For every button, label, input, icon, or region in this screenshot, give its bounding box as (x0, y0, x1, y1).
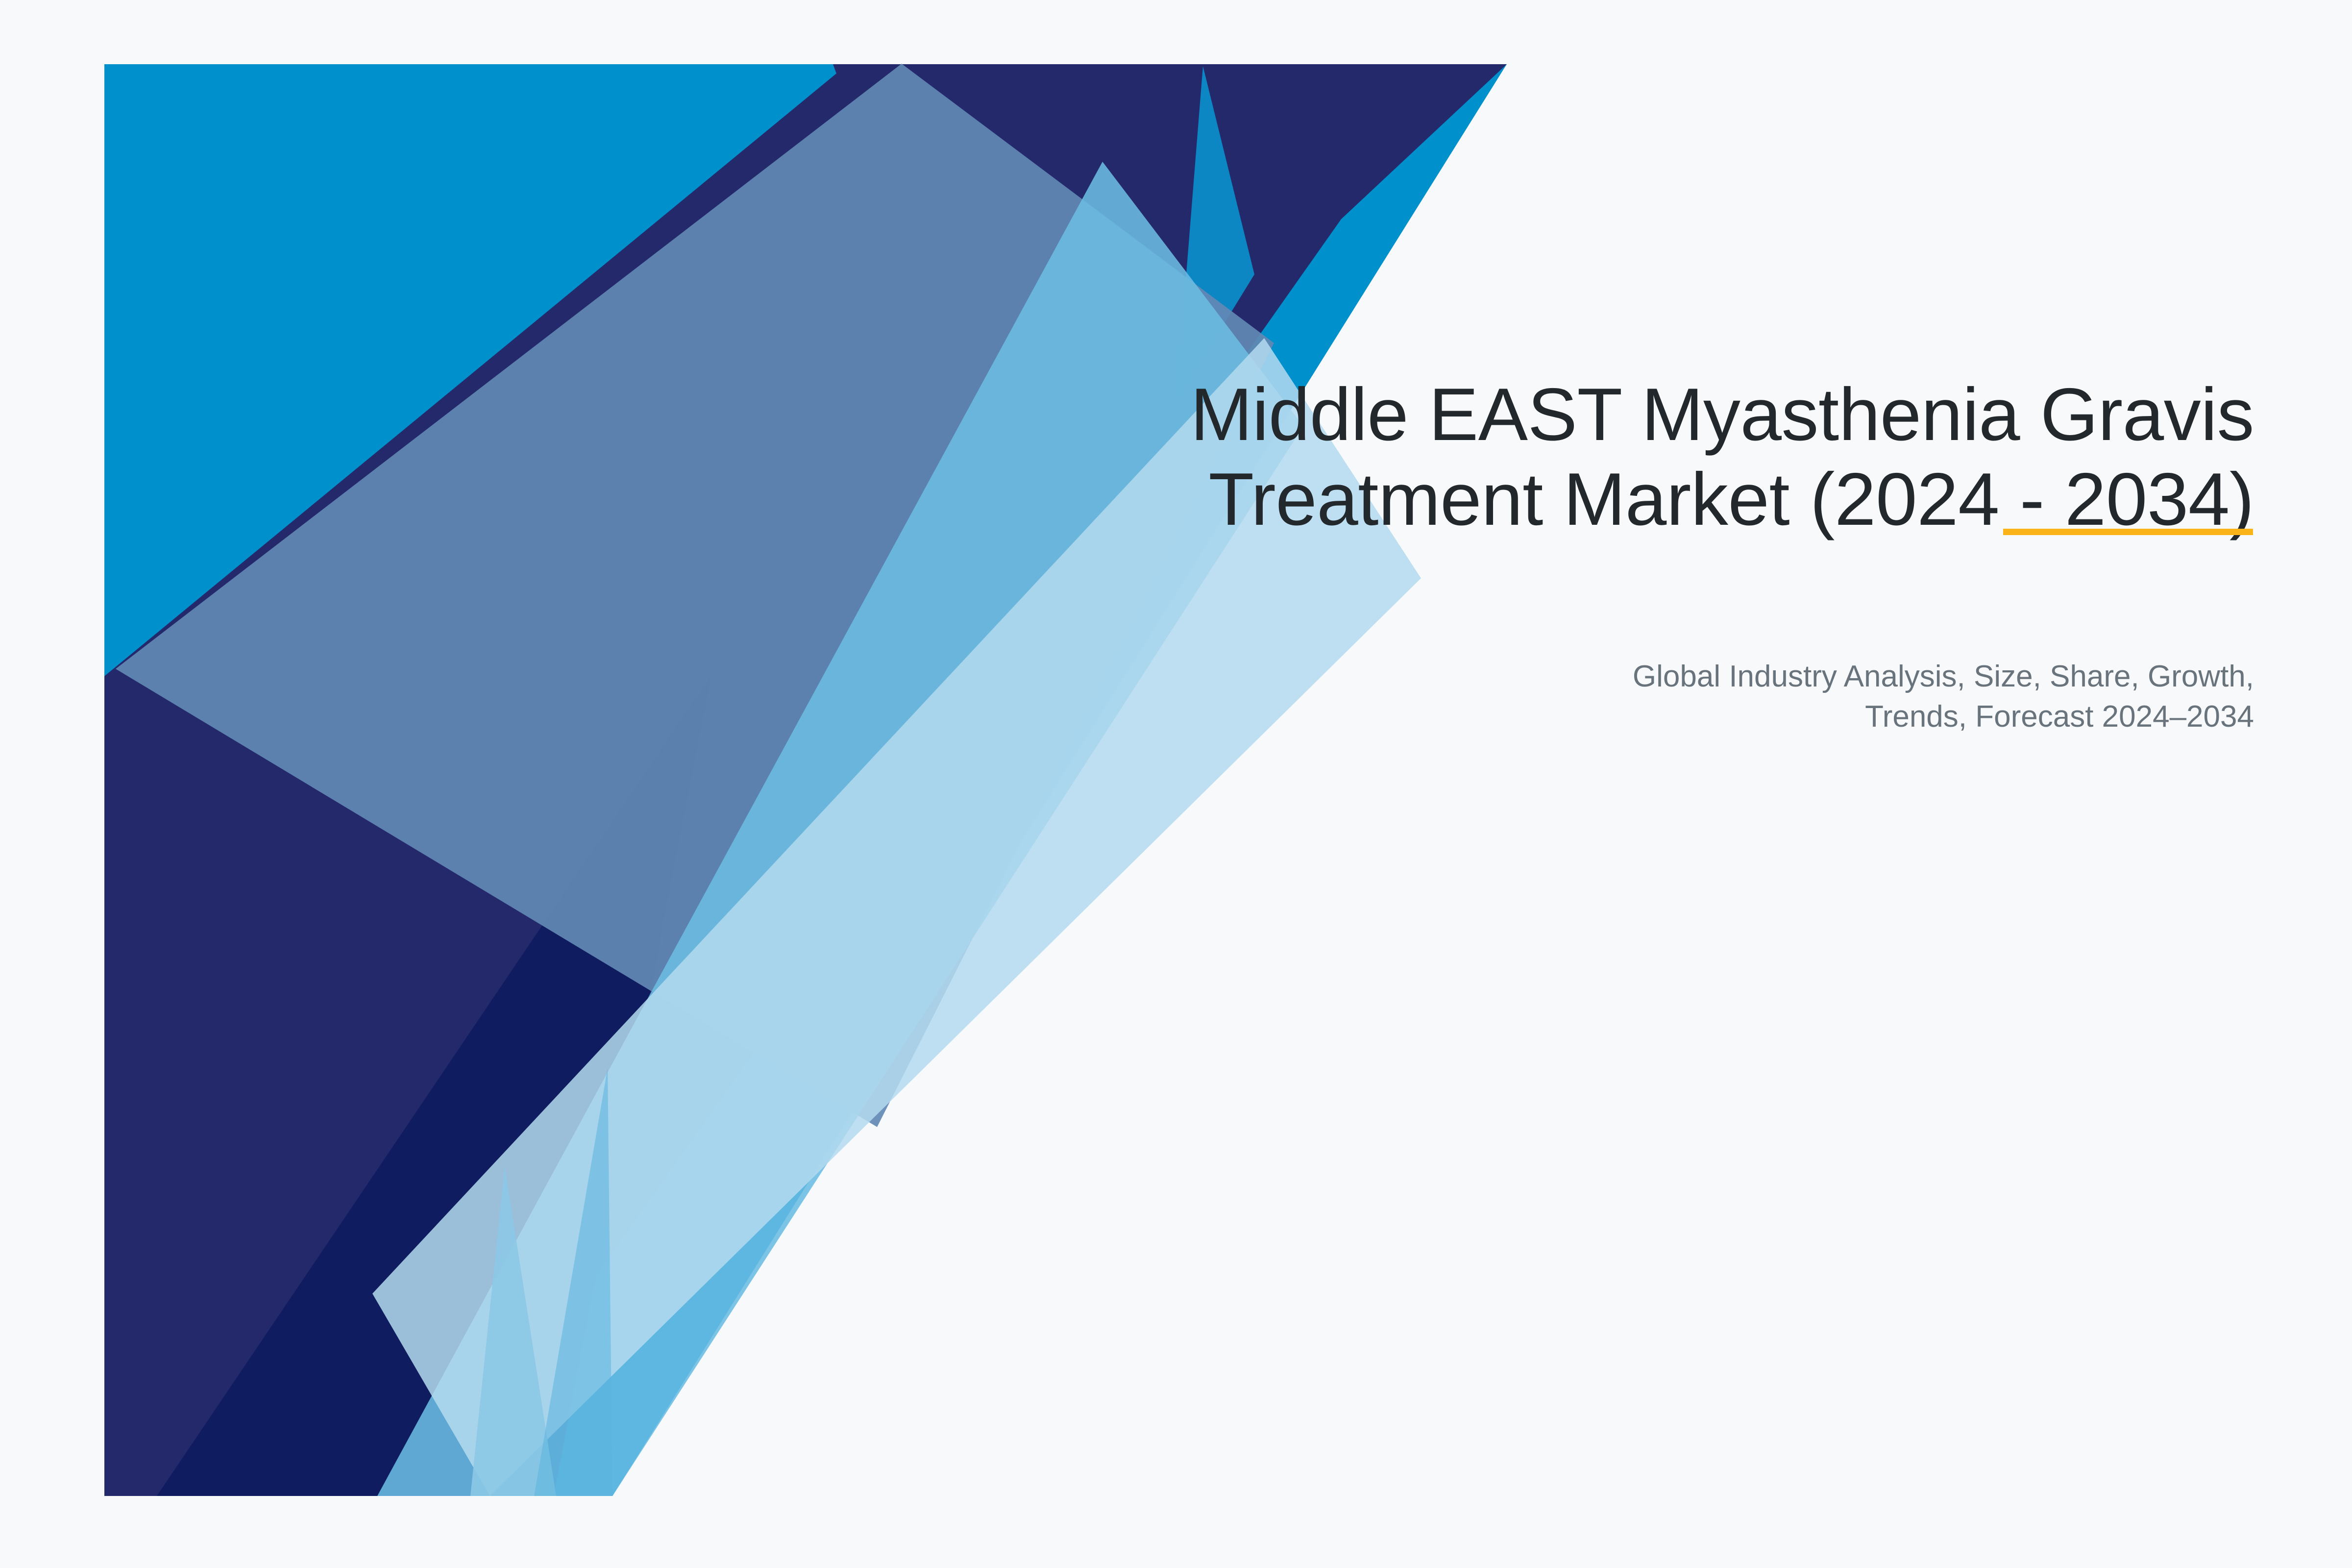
slide-canvas: Middle EAST Myasthenia Gravis Treatment … (0, 0, 2352, 1568)
abstract-geometric-artwork (0, 0, 2352, 1568)
title-block: Middle EAST Myasthenia Gravis Treatment … (1029, 372, 2254, 542)
page-title: Middle EAST Myasthenia Gravis Treatment … (1029, 372, 2254, 542)
page-subtitle: Global Industry Analysis, Size, Share, G… (1632, 657, 2254, 737)
accent-underline (2003, 529, 2253, 535)
